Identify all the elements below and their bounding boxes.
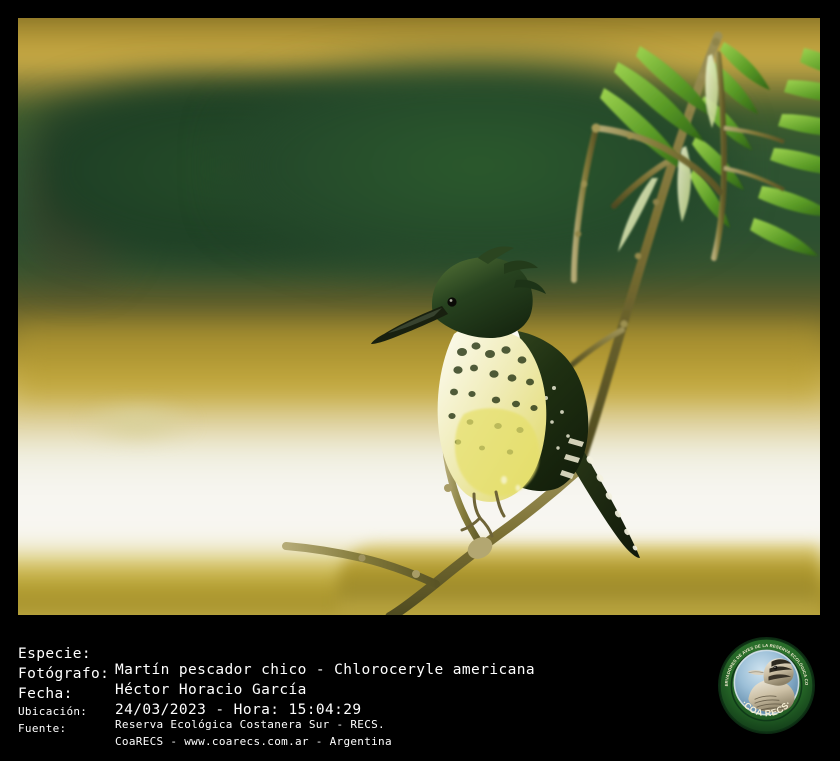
coa-recs-logo-svg: CLUB DE OBSERVADORES DE AVES DE LA RESER… xyxy=(717,636,816,735)
caption-label-fuente: Fuente: xyxy=(18,722,66,735)
caption-value-fotografo: Héctor Horacio García xyxy=(115,682,307,698)
caption-value-especie: Martín pescador chico - Chloroceryle ame… xyxy=(115,662,535,678)
caption-bar: Especie: Martín pescador chico - Chloroc… xyxy=(0,617,840,734)
photo-foreground xyxy=(18,18,820,615)
caption-row-fuente: Fuente: CoaRECS - www.coarecs.com.ar - A… xyxy=(0,709,42,761)
bird-eye xyxy=(447,297,456,306)
caption-value-fuente: CoaRECS - www.coarecs.com.ar - Argentina xyxy=(115,735,392,748)
screenshot-root: Especie: Martín pescador chico - Chloroc… xyxy=(0,0,840,734)
leaf-cluster xyxy=(600,42,820,258)
caption-value-ubicacion: Reserva Ecológica Costanera Sur - RECS. xyxy=(115,718,385,731)
caption-value-fecha: 24/03/2023 - Hora: 15:04:29 xyxy=(115,702,362,718)
bird-photograph xyxy=(18,18,820,615)
coa-recs-logo[interactable]: CLUB DE OBSERVADORES DE AVES DE LA RESER… xyxy=(717,636,816,735)
